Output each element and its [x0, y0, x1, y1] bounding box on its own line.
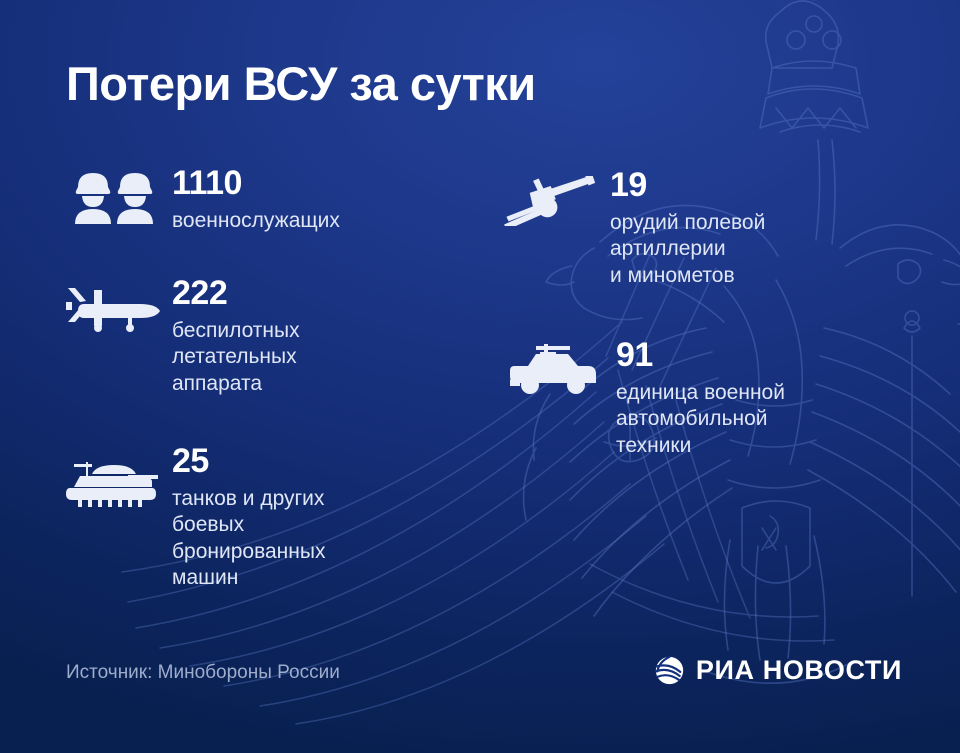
stat-artillery-value: 19	[610, 168, 765, 203]
page-title: Потери ВСУ за сутки	[66, 56, 536, 111]
stat-uav-text: 222 беспилотных летательных аппарата	[172, 276, 300, 397]
stat-tank-value: 25	[172, 444, 325, 479]
ria-novosti-wordmark: РИА НОВОСТИ	[696, 655, 902, 686]
drone-icon	[66, 286, 162, 332]
stat-personnel-value: 1110	[172, 166, 340, 201]
stat-personnel-label: военнослужащих	[172, 208, 340, 234]
stat-tank-text: 25 танков и других боевых бронированных …	[172, 444, 325, 591]
stat-artillery-text: 19 орудий полевой артиллерии и минометов	[610, 168, 765, 289]
stat-vehicle-label: единица военной автомобильной техники	[616, 380, 785, 459]
stat-vehicle: 91 единица военной автомобильной техники	[508, 338, 785, 459]
artillery-gun-icon-wrap	[498, 168, 610, 226]
source-attribution: Источник: Минобороны России	[66, 662, 340, 684]
infographic-poster: Потери ВСУ за сутки 1110 военнослужащих	[0, 0, 960, 753]
tank-icon	[66, 456, 162, 508]
military-vehicle-icon-wrap	[508, 338, 616, 396]
military-vehicle-icon	[508, 344, 598, 396]
stat-artillery: 19 орудий полевой артиллерии и минометов	[498, 168, 765, 289]
drone-icon-wrap	[66, 276, 172, 332]
stat-tank-label: танков и других боевых бронированных маш…	[172, 486, 325, 592]
stat-personnel: 1110 военнослужащих	[72, 166, 340, 234]
stat-uav-label: беспилотных летательных аппарата	[172, 318, 300, 397]
stat-vehicle-text: 91 единица военной автомобильной техники	[616, 338, 785, 459]
stat-vehicle-value: 91	[616, 338, 785, 373]
soldiers-icon-wrap	[72, 166, 172, 224]
artillery-gun-icon	[498, 176, 598, 226]
stat-artillery-label: орудий полевой артиллерии и минометов	[610, 210, 765, 289]
ria-globe-logo-icon	[654, 655, 685, 686]
stat-uav-value: 222	[172, 276, 300, 311]
soldiers-icon	[72, 170, 156, 224]
stat-personnel-text: 1110 военнослужащих	[172, 166, 340, 234]
tank-icon-wrap	[66, 444, 172, 508]
ria-novosti-logo: РИА НОВОСТИ	[654, 655, 902, 686]
stat-uav: 222 беспилотных летательных аппарата	[66, 276, 300, 397]
stat-tank: 25 танков и других боевых бронированных …	[66, 444, 325, 591]
